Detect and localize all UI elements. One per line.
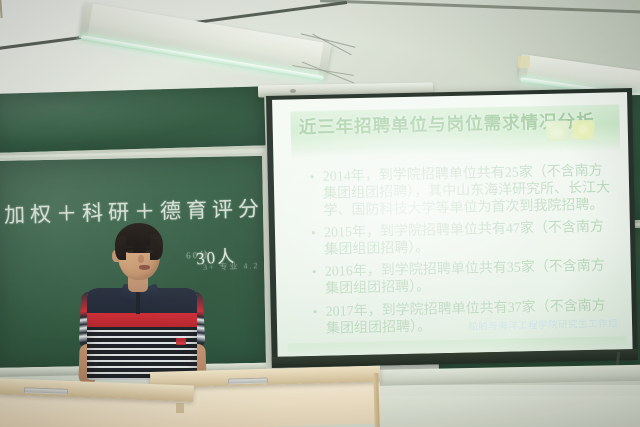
shirt-logo-patch bbox=[176, 338, 186, 345]
bullet-dot-icon: • bbox=[310, 169, 324, 221]
presenter-nose bbox=[138, 255, 144, 263]
bullet-text: 2014年，到学院招聘单位共有25家（不含南方集团组团招聘），其中山东海洋研究所… bbox=[323, 162, 614, 220]
presenter-eyebrow-right bbox=[145, 246, 154, 248]
list-item: • 2016年，到学院招聘单位共有35家（不含南方集团组团招聘）。 bbox=[312, 258, 616, 299]
projected-slide: 近三年招聘单位与岗位需求情况分析 • 2014年，到学院招聘单位共有25家（不含… bbox=[272, 92, 633, 357]
floor bbox=[376, 396, 640, 427]
presenter-hair-side-left bbox=[115, 236, 126, 260]
bullet-dot-icon: • bbox=[312, 264, 326, 298]
list-item: • 2014年，到学院招聘单位共有25家（不含南方集团组团招聘），其中山东海洋研… bbox=[310, 162, 614, 220]
list-item: • 2015年，到学院招聘单位共有47家（不含南方集团组团招聘）。 bbox=[311, 219, 615, 260]
lamp-mount-tape bbox=[518, 56, 530, 68]
slide-decoration-image-b bbox=[572, 120, 595, 140]
blackboard-sheen bbox=[0, 86, 266, 153]
roller-logo-icon bbox=[290, 89, 296, 93]
bullet-dot-icon: • bbox=[311, 225, 325, 259]
presenter-mouth bbox=[139, 265, 150, 270]
shirt-placket bbox=[136, 292, 140, 314]
blackboard-left-upper bbox=[0, 86, 266, 156]
slide-canvas: 近三年招聘单位与岗位需求情况分析 • 2014年，到学院招聘单位共有25家（不含… bbox=[272, 92, 633, 357]
podium-corner-plate bbox=[176, 403, 184, 413]
bullet-text: 2016年，到学院招聘单位共有35家（不含南方集团组团招聘）。 bbox=[325, 258, 616, 298]
bullet-text: 2015年，到学院招聘单位共有47家（不含南方集团组团招聘）。 bbox=[324, 219, 615, 259]
bullet-dot-icon: • bbox=[313, 303, 327, 337]
podium-handle[interactable] bbox=[228, 377, 268, 384]
slide-decoration-image-a bbox=[546, 120, 569, 140]
screenshot-root: 加权＋科研＋德育评分 60分 30人 3+ 专业 4.2 近三年招聘单位与岗位需… bbox=[0, 0, 640, 427]
projection-screen[interactable]: 近三年招聘单位与岗位需求情况分析 • 2014年，到学院招聘单位共有25家（不含… bbox=[266, 88, 638, 368]
shirt-red-band bbox=[87, 313, 197, 327]
